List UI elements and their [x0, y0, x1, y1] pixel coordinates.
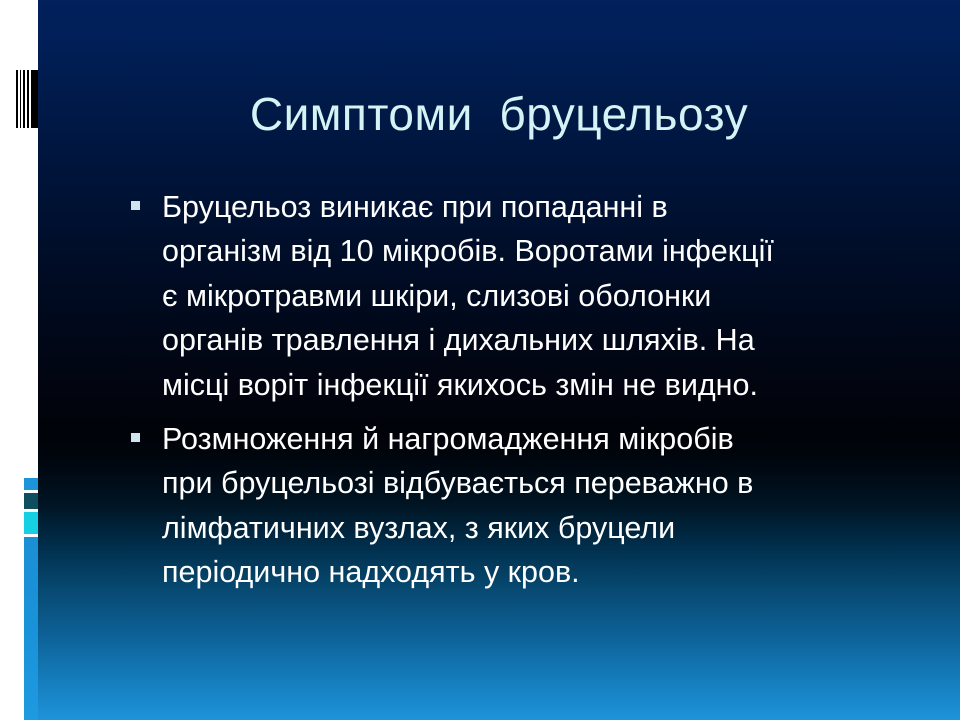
barcode-bar-wide	[31, 70, 38, 128]
bullet-text: Розмноження й нагромадження мікробів при…	[162, 417, 890, 595]
square-bullet-icon	[131, 433, 140, 442]
bullet-text: Бруцельоз виникає при попаданні в органі…	[162, 185, 890, 407]
list-item: Бруцельоз виникає при попаданні в органі…	[122, 185, 890, 407]
accent-segment-cyan-icon	[24, 512, 38, 534]
presentation-slide: Симптоми бруцельозу Бруцельоз виникає пр…	[0, 0, 960, 720]
accent-segment-teal-icon	[24, 493, 38, 509]
slide-title: Симптоми бруцельозу	[38, 89, 960, 140]
square-bullet-icon	[131, 201, 140, 210]
accent-bar-decoration	[24, 478, 38, 720]
accent-square-blue-icon	[24, 478, 38, 490]
slide-bullet-list: Бруцельоз виникає при попаданні в органі…	[122, 185, 890, 604]
list-item: Розмноження й нагромадження мікробів при…	[122, 417, 890, 595]
barcode-decoration-icon	[16, 70, 38, 128]
accent-bar-blue-icon	[24, 537, 38, 720]
